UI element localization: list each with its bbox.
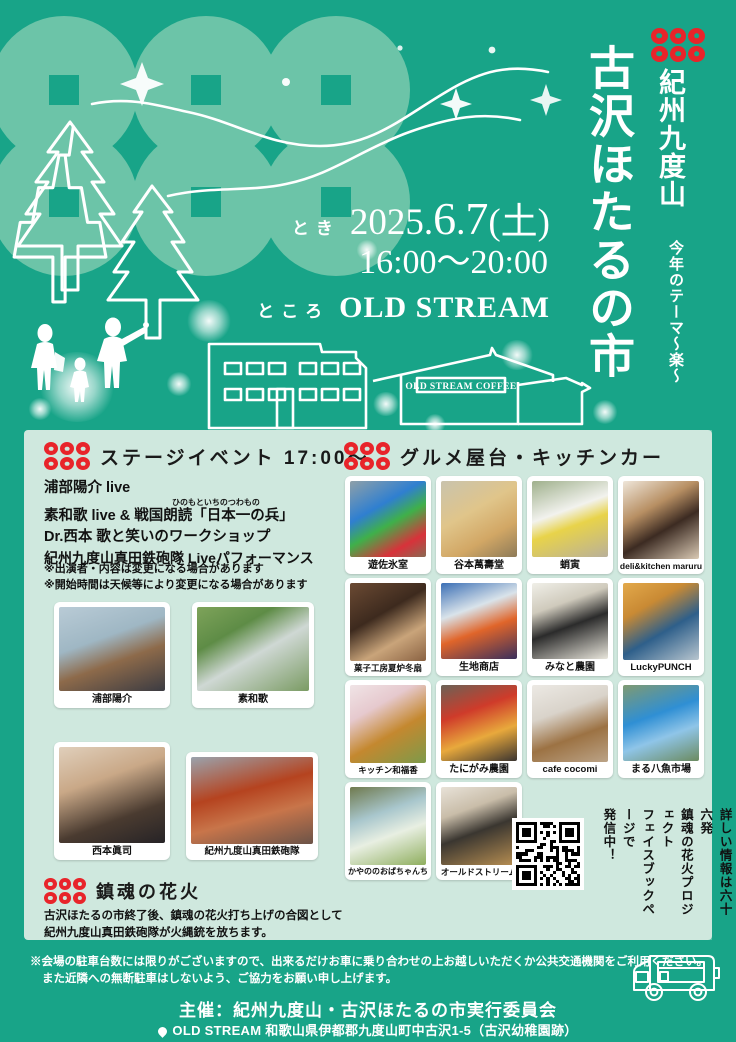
fireworks-body-line-1: 古沢ほたるの市終了後、鎮魂の花火打ち上げの合図として xyxy=(44,908,354,925)
stall-name: 生地商店 xyxy=(459,662,499,673)
title-theme: 今年のテーマ〜楽〜 xyxy=(665,240,686,430)
stall-card[interactable]: オールドストリーム xyxy=(436,782,522,880)
coffee-shop-interior-photo xyxy=(441,787,517,865)
stall-card[interactable]: まる八魚市場 xyxy=(618,680,704,778)
poster-title-block: 紀州九度山 今年のテーマ〜楽〜 古沢ほたるの市 xyxy=(596,0,736,440)
event-venue: OLD STREAM xyxy=(339,291,550,325)
when-row: とき 2025.6.7(土) xyxy=(220,196,550,242)
duo-waterfall-photo xyxy=(197,607,309,691)
fireworks-section-header: 鎮魂の花火 xyxy=(44,878,354,904)
two-staff-waving-photo xyxy=(441,583,517,659)
where-label: ところ xyxy=(257,297,329,322)
fried-chicken-lucky-photo xyxy=(623,583,699,660)
performer-card[interactable]: 西本眞司 xyxy=(54,742,170,860)
event-datetime-block: とき 2025.6.7(土) 16:00〜20:00 ところ OLD STREA… xyxy=(220,196,550,325)
tent-stall-photo xyxy=(350,787,426,865)
performer-card[interactable]: 素和歌 xyxy=(192,602,314,708)
red-jacket-vendor-photo xyxy=(441,685,517,761)
date-month: 6 xyxy=(433,193,456,244)
stage-act-label: 浦部陽介 live xyxy=(44,480,130,496)
kitchen-car-icon xyxy=(620,946,728,1008)
qr-caption-line-4: 発信中！ xyxy=(601,808,615,862)
stall-name: deli&kitchen maruru xyxy=(620,562,702,571)
fireworks-body-line-2: 紀州九度山真田鉄砲隊が火縄銃を放ちます。 xyxy=(44,925,354,942)
qr-caption-line-3: フェイスブックページで xyxy=(621,808,654,916)
stall-card[interactable]: 菓子工房夏炉冬扇 xyxy=(345,578,431,676)
stall-name: 蛸寅 xyxy=(560,560,580,571)
stage-note-2: ※開始時間は天候等により変更になる場合があります xyxy=(44,578,307,593)
event-date: 2025.6.7(土) xyxy=(350,196,550,242)
sanada-crest-icon xyxy=(344,442,390,470)
event-time: 16:00〜20:00 xyxy=(220,242,550,285)
page-title: 古沢ほたるの市 xyxy=(576,44,642,434)
stall-name: まる八魚市場 xyxy=(631,764,691,775)
pound-cake-photo xyxy=(532,685,608,762)
stall-name: LuckyPUNCH xyxy=(630,663,691,673)
footer: ※会場の駐車台数には限りがございますので、出来るだけお車に乗り合わせの上お越しい… xyxy=(0,948,736,1042)
popcorn-craft-cola-menu-photo xyxy=(532,583,608,659)
gourmet-section-header: グルメ屋台・キッチンカー xyxy=(344,442,664,470)
when-label: とき xyxy=(292,214,340,239)
ruby-annotation: ひのもといちのつわもの xyxy=(172,499,344,507)
stage-section-header: ステージイベント 17:00〜 xyxy=(44,442,370,470)
stall-card[interactable]: cafe cocomi xyxy=(527,680,613,778)
dango-skewers-photo xyxy=(441,481,517,557)
performer-card[interactable]: 浦部陽介 xyxy=(54,602,170,708)
blue-fish-stall-photo xyxy=(623,685,699,761)
guitarist-portrait-photo xyxy=(59,607,165,691)
qr-caption: 詳しい情報は六十六発 鎮魂の花火プロジェクト フェイスブックページで 発信中！ xyxy=(598,808,734,928)
stall-card[interactable]: みなと農園 xyxy=(527,578,613,676)
stall-name: みなと農園 xyxy=(545,662,595,673)
qr-caption-line-2: 鎮魂の花火プロジェクト xyxy=(660,808,693,916)
stall-name: かやののおばちゃんち xyxy=(348,868,428,877)
performer-name: 西本眞司 xyxy=(92,846,132,857)
date-weekday: (土) xyxy=(488,202,550,243)
stall-card[interactable]: 生地商店 xyxy=(436,578,522,676)
date-separator: . xyxy=(424,202,433,243)
firefly-glow xyxy=(28,398,52,420)
stage-act-label: 素和歌 live & 戦国朗読「日本一の兵」 xyxy=(44,508,294,524)
fireworks-section: 鎮魂の花火 古沢ほたるの市終了後、鎮魂の花火打ち上げの合図として 紀州九度山真田… xyxy=(44,878,354,941)
smiling-man-suit-photo xyxy=(59,747,165,843)
building-sign-label: OLD STREAM COFFEE xyxy=(405,382,516,392)
title-prefix: 紀州九度山 xyxy=(651,68,690,238)
stall-card[interactable]: かやののおばちゃんち xyxy=(345,782,431,880)
date-year: 2025 xyxy=(350,202,424,243)
fireworks-heading: 鎮魂の花火 xyxy=(96,878,201,904)
stall-name: 谷本萬壽堂 xyxy=(454,560,504,571)
parking-notice-line-2: また近隣への無断駐車はしないよう、ご協力をお願い申し上げます。 xyxy=(30,971,710,988)
gourmet-heading: グルメ屋台・キッチンカー xyxy=(400,443,664,470)
sanada-crest-icon xyxy=(44,442,90,470)
stage-lineup-list: 浦部陽介 live ひのもといちのつわもの 素和歌 live & 戦国朗読「日本… xyxy=(44,478,344,568)
parking-notice-line-1: ※会場の駐車台数には限りがございますので、出来るだけお車に乗り合わせの上お越しい… xyxy=(30,954,710,971)
stall-card[interactable]: キッチン和福香 xyxy=(345,680,431,778)
stall-name: オールドストリーム xyxy=(441,868,517,877)
stall-card[interactable]: 蛸寅 xyxy=(527,476,613,574)
date-day: 7 xyxy=(465,193,488,244)
performer-name: 紀州九度山真田鉄砲隊 xyxy=(204,847,299,857)
stall-card[interactable]: 遊佐氷室 xyxy=(345,476,431,574)
stage-act-label: Dr.西本 歌と笑いのワークショップ xyxy=(44,529,270,545)
date-separator: . xyxy=(456,202,465,243)
parking-notice: ※会場の駐車台数には限りがございますので、出来るだけお車に乗り合わせの上お越しい… xyxy=(30,954,710,989)
map-pin-icon xyxy=(157,1025,170,1038)
performer-name: 素和歌 xyxy=(238,694,268,705)
sanada-crest-icon xyxy=(651,28,705,62)
stall-card[interactable]: deli&kitchen maruru xyxy=(618,476,704,574)
sanada-crest-icon xyxy=(44,878,86,904)
firefly-glow xyxy=(166,372,192,396)
sweets-display-photo xyxy=(350,583,426,661)
curry-bowls-photo xyxy=(350,685,426,763)
deli-dishes-photo xyxy=(623,481,699,559)
performer-name: 浦部陽介 xyxy=(92,694,132,705)
stall-card[interactable]: たにがみ農園 xyxy=(436,680,522,778)
stall-card[interactable]: 谷本萬壽堂 xyxy=(436,476,522,574)
where-row: ところ OLD STREAM xyxy=(220,291,550,325)
shaved-ice-photo xyxy=(350,481,426,557)
list-item: 浦部陽介 live xyxy=(44,478,344,499)
qr-caption-line-1: 詳しい情報は六十六発 xyxy=(698,808,731,916)
qr-code-icon[interactable] xyxy=(512,818,584,890)
event-poster: OLD STREAM COFFEE 紀州九度山 今年のテーマ〜楽〜 古沢ほたるの… xyxy=(0,0,736,1042)
qr-modules xyxy=(516,822,580,886)
stage-heading: ステージイベント 17:00〜 xyxy=(100,443,370,470)
stall-name: cafe cocomi xyxy=(543,765,598,775)
matchlock-gun-troop-photo xyxy=(191,757,313,844)
stall-name: キッチン和福香 xyxy=(358,766,418,775)
stall-name: たにがみ農園 xyxy=(449,764,509,775)
address-line: OLD STREAM 和歌山県伊都郡九度山町中古沢1-5（古沢幼稚園跡） xyxy=(0,1020,736,1039)
stall-card[interactable]: LuckyPUNCH xyxy=(618,578,704,676)
list-item: ひのもといちのつわもの 素和歌 live & 戦国朗読「日本一の兵」 xyxy=(44,499,344,527)
firefly-glow xyxy=(500,340,534,370)
address-text: OLD STREAM 和歌山県伊都郡九度山町中古沢1-5（古沢幼稚園跡） xyxy=(172,1023,577,1038)
stage-note-1: ※出演者・内容は変更になる場合があります xyxy=(44,562,264,577)
list-item: Dr.西本 歌と笑いのワークショップ xyxy=(44,527,344,548)
white-kitchen-car-photo xyxy=(532,481,608,557)
firefly-glow xyxy=(372,392,400,416)
performer-card[interactable]: 紀州九度山真田鉄砲隊 xyxy=(186,752,318,860)
stall-name: 遊佐氷室 xyxy=(368,560,408,571)
stall-name: 菓子工房夏炉冬扇 xyxy=(354,664,422,673)
